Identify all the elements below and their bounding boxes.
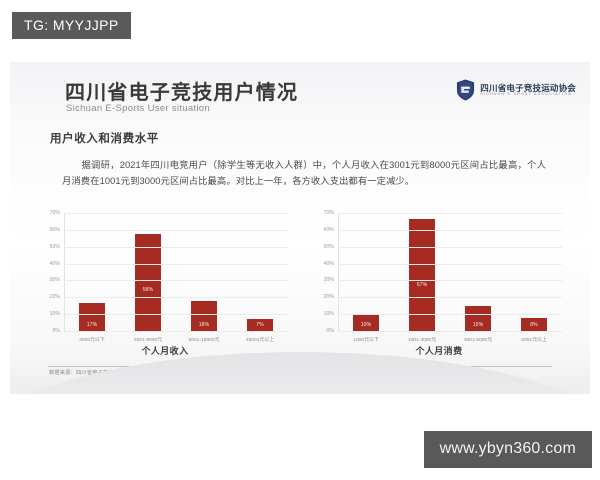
bar-value-label: 18% — [199, 322, 210, 331]
screenshot-root: TG: MYYJJPP 四川省电子竞技用户情况 Sichuan E-Sports… — [0, 0, 600, 480]
shield-icon — [456, 79, 475, 101]
logo-text-block: 四川省电子竞技运动协会 SICHUAN E-SPORT ASSOCIATION — [480, 84, 576, 97]
association-logo: 四川省电子竞技运动协会 SICHUAN E-SPORT ASSOCIATION — [456, 79, 576, 101]
chart-title-spending: 个人月消费 — [302, 344, 576, 357]
y-tick-label: 30% — [50, 277, 60, 283]
bar[interactable]: 18% — [191, 301, 217, 331]
y-tick-label: 20% — [50, 294, 60, 300]
gridline: 70% — [338, 213, 562, 214]
gridline: 30% — [64, 280, 288, 281]
bar-value-label: 15% — [473, 322, 484, 331]
gridline: 30% — [338, 280, 562, 281]
chart-income: 17%58%18%7% 70%60%50%40%30%20%10%0% 3000… — [28, 210, 302, 355]
x-tick-label: 1001-3000元 — [394, 336, 450, 343]
gridline: 0% — [338, 331, 562, 332]
y-tick-label: 50% — [324, 244, 334, 250]
gridline: 60% — [64, 230, 288, 231]
bar-value-label: 67% — [417, 282, 428, 291]
x-tick-labels-income: 3000元以下3001-8000元8001-15000元15001元以上 — [64, 336, 288, 343]
y-tick-label: 20% — [324, 294, 334, 300]
bar-value-label: 8% — [530, 322, 538, 331]
gridline: 20% — [338, 297, 562, 298]
gridline: 40% — [338, 264, 562, 265]
gridline: 10% — [64, 314, 288, 315]
footnote-divider — [48, 366, 552, 367]
tg-tag-overlay: TG: MYYJJPP — [12, 12, 131, 39]
bar[interactable]: 15% — [465, 306, 491, 331]
gridline: 70% — [64, 213, 288, 214]
y-tick-label: 70% — [324, 210, 334, 216]
x-tick-label: 1000元以下 — [338, 336, 394, 343]
x-tick-label: 15001元以上 — [232, 336, 288, 343]
data-source-note: 数据来源：四川省电子竞技运动协会 — [49, 369, 135, 376]
page-subtitle: Sichuan E-Sports User situation — [66, 103, 210, 114]
plot-area-spending: 10%67%15%8% 70%60%50%40%30%20%10%0% — [338, 214, 562, 332]
x-tick-label: 3001-8000元 — [120, 336, 176, 343]
logo-name-en: SICHUAN E-SPORT ASSOCIATION — [480, 92, 576, 96]
y-tick-label: 0% — [53, 328, 61, 334]
charts-container: 17%58%18%7% 70%60%50%40%30%20%10%0% 3000… — [28, 210, 576, 355]
y-tick-label: 10% — [50, 311, 60, 317]
x-tick-label: 3000元以下 — [64, 336, 120, 343]
body-paragraph: 据调研，2021年四川电竞用户（除学生等无收入人群）中，个人月收入在3001元到… — [62, 158, 546, 190]
gridline: 40% — [64, 264, 288, 265]
y-tick-label: 30% — [324, 277, 334, 283]
x-tick-labels-spending: 1000元以下1001-3000元3001-5000元5001元以上 — [338, 336, 562, 343]
gridline: 0% — [64, 331, 288, 332]
bar-value-label: 10% — [361, 322, 372, 331]
y-tick-label: 60% — [50, 227, 60, 233]
bar-value-label: 58% — [143, 287, 154, 296]
gridline: 60% — [338, 230, 562, 231]
y-tick-label: 40% — [50, 261, 60, 267]
chart-spending: 10%67%15%8% 70%60%50%40%30%20%10%0% 1000… — [302, 210, 576, 355]
plot-area-income: 17%58%18%7% 70%60%50%40%30%20%10%0% — [64, 214, 288, 332]
x-tick-label: 5001元以上 — [506, 336, 562, 343]
x-tick-label: 3001-5000元 — [450, 336, 506, 343]
y-tick-label: 50% — [50, 244, 60, 250]
bar[interactable]: 7% — [247, 319, 273, 331]
bar[interactable]: 10% — [353, 314, 379, 331]
bar-value-label: 17% — [87, 322, 98, 331]
gridline: 50% — [338, 247, 562, 248]
slide-header: 四川省电子竞技用户情况 Sichuan E-Sports User situat… — [10, 62, 590, 124]
site-watermark: www.ybyn360.com — [424, 431, 592, 468]
gridline: 50% — [64, 247, 288, 248]
bar[interactable]: 58% — [135, 234, 161, 331]
bar[interactable]: 17% — [79, 303, 105, 331]
gridline: 20% — [64, 297, 288, 298]
section-heading: 用户收入和消费水平 — [50, 130, 159, 146]
y-tick-label: 40% — [324, 261, 334, 267]
chart-title-income: 个人月收入 — [28, 344, 302, 357]
y-tick-label: 60% — [324, 227, 334, 233]
y-tick-label: 0% — [327, 328, 335, 334]
x-tick-label: 8001-15000元 — [176, 336, 232, 343]
bar-value-label: 7% — [256, 322, 264, 331]
page-title: 四川省电子竞技用户情况 — [65, 76, 298, 105]
presentation-slide: 四川省电子竞技用户情况 Sichuan E-Sports User situat… — [10, 62, 590, 394]
y-tick-label: 10% — [324, 311, 334, 317]
gridline: 10% — [338, 314, 562, 315]
y-tick-label: 70% — [50, 210, 60, 216]
bar[interactable]: 8% — [521, 318, 547, 331]
